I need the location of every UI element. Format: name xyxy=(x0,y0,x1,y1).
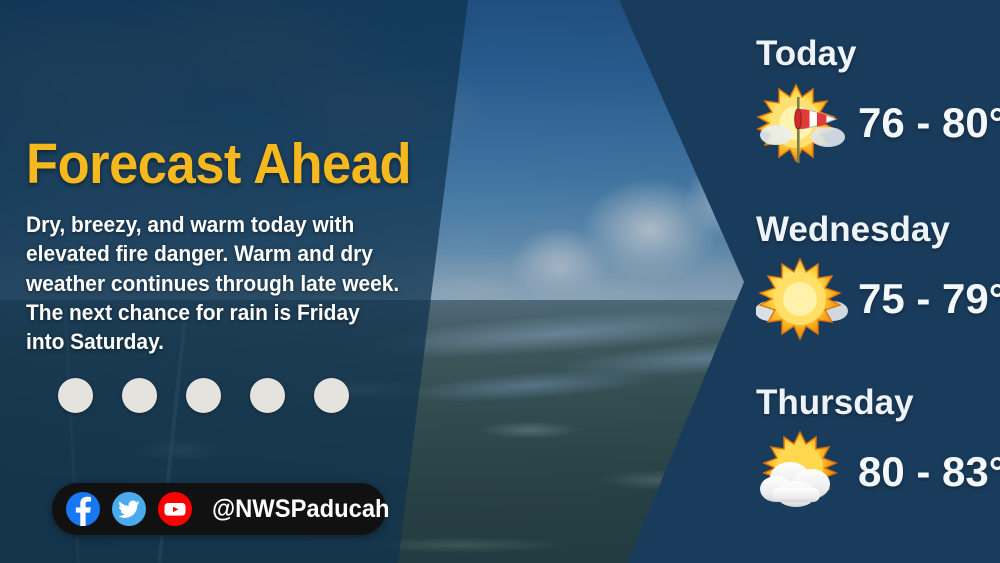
forecast-summary-text: Dry, breezy, and warm today with elevate… xyxy=(26,210,402,356)
pagination-dot-1[interactable] xyxy=(58,378,93,413)
forecast-day-label: Wednesday xyxy=(756,212,1000,247)
pagination-dot-2[interactable] xyxy=(122,378,157,413)
forecast-card-thursday: Thursday xyxy=(756,385,1000,518)
partly-cloudy-icon xyxy=(756,426,856,518)
sunny-windy-icon xyxy=(756,77,856,169)
mostly-sunny-icon xyxy=(756,253,856,345)
forecast-temperature: 76 - 80° xyxy=(858,102,1000,144)
forecast-card-today: Today xyxy=(756,36,1000,169)
left-content-column: Forecast Ahead Dry, breezy, and warm tod… xyxy=(26,0,456,563)
twitter-icon[interactable] xyxy=(112,492,146,526)
page-title: Forecast Ahead xyxy=(26,136,411,193)
forecast-day-label: Thursday xyxy=(756,385,1000,420)
facebook-icon[interactable] xyxy=(66,492,100,526)
pagination-dot-4[interactable] xyxy=(250,378,285,413)
forecast-card-wednesday: Wednesday xyxy=(756,212,1000,345)
forecast-day-label: Today xyxy=(756,36,1000,71)
social-handle-text: @NWSPaducah xyxy=(212,495,390,524)
pagination-dots[interactable] xyxy=(58,378,349,413)
forecast-graphic: Forecast Ahead Dry, breezy, and warm tod… xyxy=(0,0,1000,563)
social-handle-bar[interactable]: @NWSPaducah xyxy=(52,483,386,535)
forecast-temperature: 80 - 83° xyxy=(858,451,1000,493)
pagination-dot-5[interactable] xyxy=(314,378,349,413)
pagination-dot-3[interactable] xyxy=(186,378,221,413)
youtube-icon[interactable] xyxy=(158,492,192,526)
forecast-temperature: 75 - 79° xyxy=(858,278,1000,320)
